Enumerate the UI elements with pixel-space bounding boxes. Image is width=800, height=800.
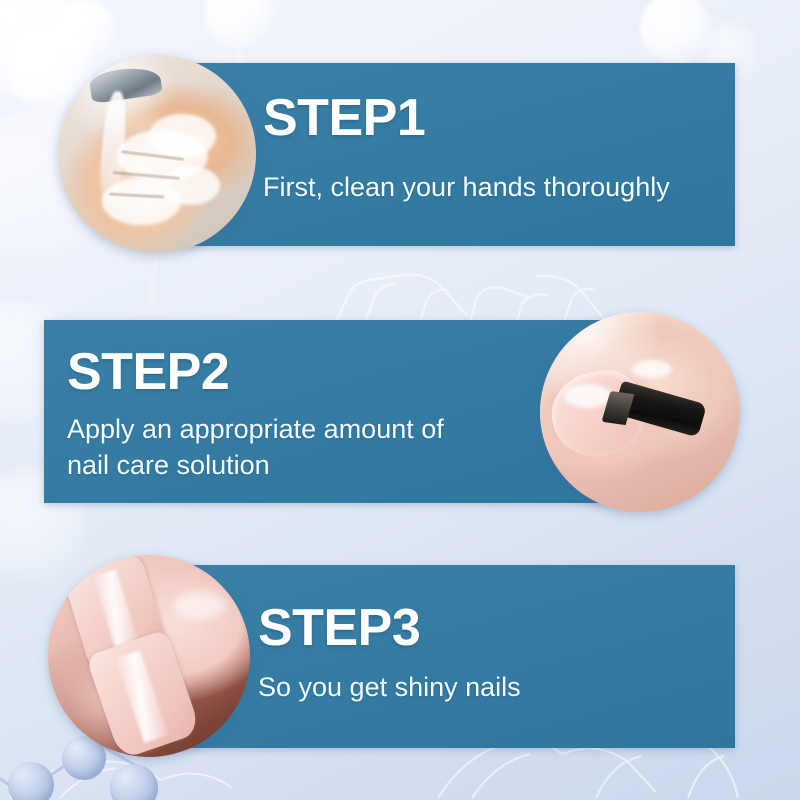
soap-lather-shape: [161, 166, 220, 206]
shiny-nails-photo-image: [48, 555, 250, 757]
nail-care-steps-infographic: STEP1 First, clean your hands thoroughly…: [0, 0, 800, 800]
applying-solution-photo: [540, 312, 740, 512]
step-2-title: STEP2: [67, 346, 229, 398]
soap-lather-shape: [149, 114, 216, 158]
nail-highlight: [564, 384, 612, 408]
step-2-description-line-2: nail care solution: [67, 448, 270, 483]
washing-hands-photo-image: [58, 55, 256, 253]
bokeh-circle: [640, 0, 712, 64]
molecule-node: [8, 762, 54, 800]
step-1-title: STEP1: [263, 92, 425, 144]
applying-solution-photo-image: [540, 312, 740, 512]
bokeh-circle: [204, 0, 274, 48]
step-3-title: STEP3: [258, 602, 420, 654]
step-1-description: First, clean your hands thoroughly: [263, 170, 733, 205]
molecule-bond: [0, 775, 37, 800]
nail-highlight: [173, 591, 226, 619]
faucet-shape: [88, 64, 163, 103]
bokeh-circle: [56, 0, 116, 60]
shiny-nails-photo: [48, 555, 250, 757]
washing-hands-photo: [58, 55, 256, 253]
molecule-node: [110, 764, 158, 800]
step-2-description-line-1: Apply an appropriate amount of: [67, 412, 444, 447]
nail-highlight: [632, 360, 672, 378]
step-3-description: So you get shiny nails: [258, 670, 521, 705]
